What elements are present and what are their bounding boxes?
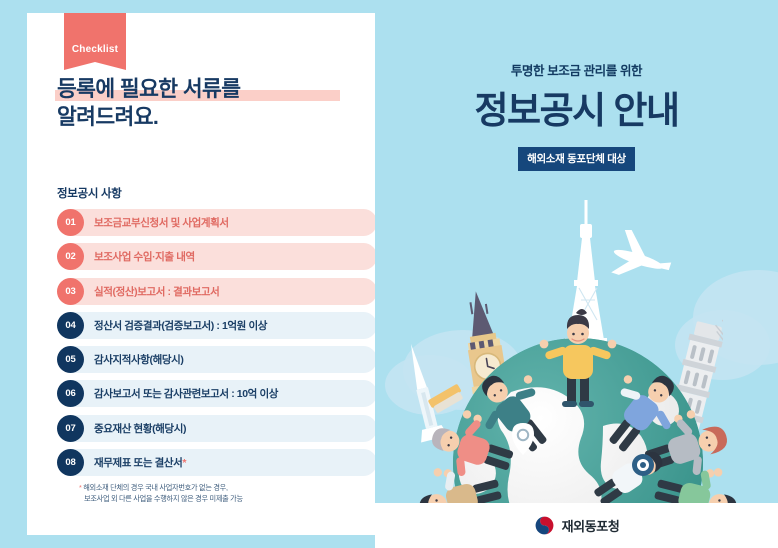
footnote-asterisk: *	[182, 457, 186, 469]
page-title: 등록에 필요한 서류를 알려드려요.	[57, 75, 357, 131]
footnote-line-2: 보조사업 외 다른 사업을 수행하지 않은 경우 미제출 가능	[84, 494, 369, 505]
list-item-number: 05	[57, 346, 84, 373]
book-icon	[421, 371, 481, 431]
list-item[interactable]: 03 실적(정산)보고서 : 결과보고서	[57, 278, 377, 305]
footnote-line-1: 해외소재 단체의 경우 국내 사업자번호가 없는 경우,	[83, 483, 227, 492]
checklist-ribbon: Checklist	[64, 13, 126, 70]
footnote: * 해외소재 단체의 경우 국내 사업자번호가 없는 경우, 보조사업 외 다른…	[79, 483, 369, 504]
list-item[interactable]: 06 감사보고서 또는 감사관련보고서 : 10억 이상	[57, 380, 377, 407]
list-item-label: 정산서 검증결과(검증보고서) : 1억원 이상	[94, 318, 267, 333]
list-item[interactable]: 01 보조금교부신청서 및 사업계획서	[57, 209, 377, 236]
checklist-card: Checklist 등록에 필요한 서류를 알려드려요. 정보공시 사항 01 …	[27, 13, 375, 535]
headline-line-2: 알려드려요.	[57, 103, 357, 131]
list-item-number: 07	[57, 415, 84, 442]
section-title: 정보공시 사항	[57, 185, 122, 201]
list-item[interactable]: 07 중요재산 현황(해당시)	[57, 415, 377, 442]
list-item-label: 보조금교부신청서 및 사업계획서	[94, 215, 229, 230]
list-item-number: 01	[57, 209, 84, 236]
people-group	[375, 175, 778, 510]
list-item-label: 중요재산 현황(해당시)	[94, 421, 186, 436]
target-audience-badge: 해외소재 동포단체 대상	[518, 147, 635, 171]
hero-panel: 투명한 보조금 관리를 위한 정보공시 안내 해외소재 동포단체 대상	[375, 0, 778, 548]
compass-icon	[632, 454, 654, 476]
footer-strip: 재외동포청	[375, 503, 778, 548]
list-item-label: 재무제표 또는 결산서*	[94, 455, 186, 470]
list-item-number: 02	[57, 243, 84, 270]
list-item-number: 06	[57, 380, 84, 407]
checklist-ribbon-label: Checklist	[72, 44, 118, 55]
hero-badge-wrap: 해외소재 동포단체 대상	[375, 147, 778, 171]
headline-line-1: 등록에 필요한 서류를	[57, 75, 357, 103]
headline-line-1-text: 등록에 필요한 서류를	[57, 77, 240, 101]
list-item-label-text: 재무제표 또는 결산서	[94, 457, 182, 469]
disclosure-item-list: 01 보조금교부신청서 및 사업계획서 02 보조사업 수입·지출 내역 03 …	[57, 209, 377, 483]
illustration	[375, 175, 778, 510]
list-item[interactable]: 05 감사지적사항(해당시)	[57, 346, 377, 373]
list-item-number: 08	[57, 449, 84, 476]
list-item-label: 감사보고서 또는 감사관련보고서 : 10억 이상	[94, 386, 278, 401]
list-item-label: 감사지적사항(해당시)	[94, 352, 184, 367]
agency-logo: 재외동포청	[375, 515, 778, 536]
list-item-number: 03	[57, 278, 84, 305]
agency-name: 재외동포청	[562, 516, 620, 535]
list-item[interactable]: 02 보조사업 수입·지출 내역	[57, 243, 377, 270]
hero-eyebrow: 투명한 보조금 관리를 위한	[375, 60, 778, 79]
poster: Checklist 등록에 필요한 서류를 알려드려요. 정보공시 사항 01 …	[0, 0, 778, 548]
list-item-number: 04	[57, 312, 84, 339]
person	[591, 446, 667, 509]
list-item[interactable]: 04 정산서 검증결과(검증보고서) : 1억원 이상	[57, 312, 377, 339]
list-item-label: 보조사업 수입·지출 내역	[94, 249, 195, 264]
list-item-label: 실적(정산)보고서 : 결과보고서	[94, 284, 219, 299]
footnote-marker: *	[79, 483, 82, 492]
hero-title: 정보공시 안내	[375, 88, 778, 134]
person	[540, 309, 617, 407]
headline-line-2-text: 알려드려요.	[57, 105, 158, 129]
taegeuk-icon	[534, 515, 555, 536]
list-item[interactable]: 08 재무제표 또는 결산서*	[57, 449, 377, 476]
